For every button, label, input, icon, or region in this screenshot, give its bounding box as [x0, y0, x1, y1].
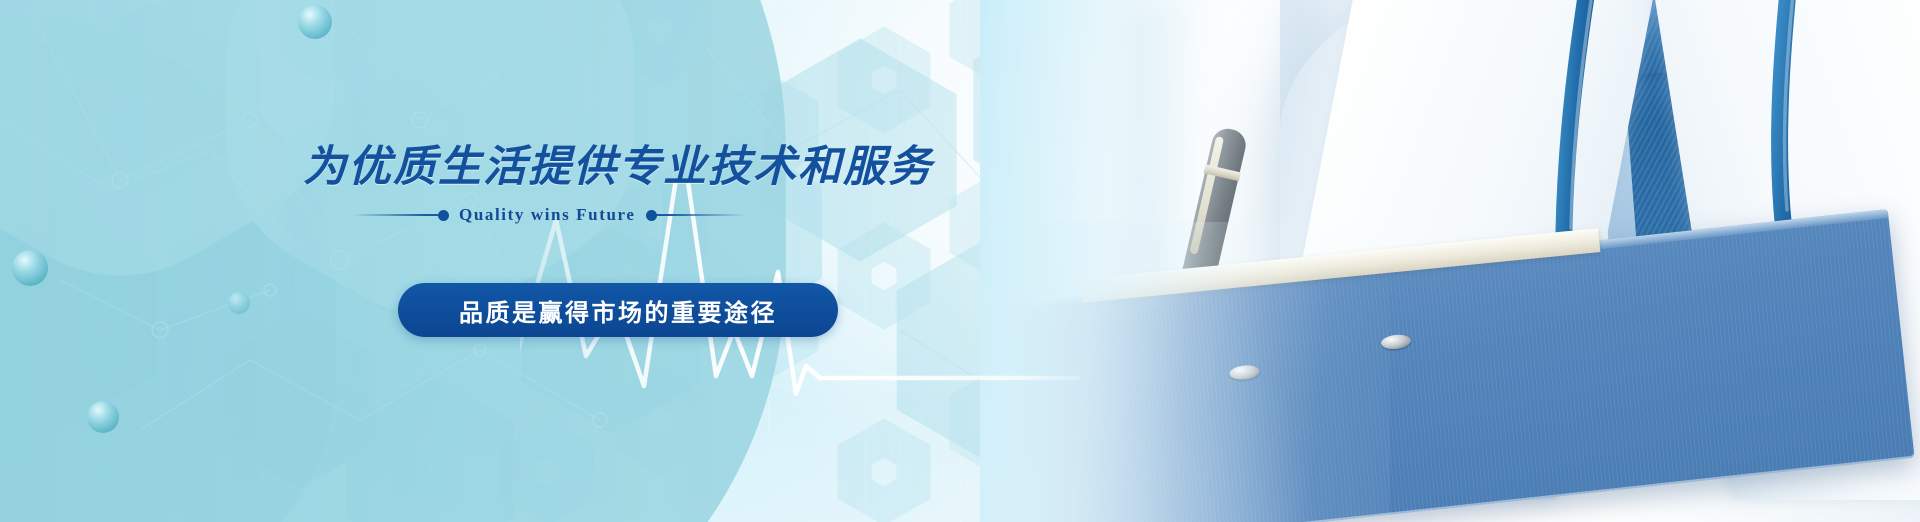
- divider-dot-left: [438, 210, 449, 221]
- slogan-pill[interactable]: 品质是赢得市场的重要途径: [398, 283, 838, 337]
- divider-line-left: [352, 214, 438, 216]
- page-title: 为优质生活提供专业技术和服务: [303, 132, 933, 194]
- tagline-divider: Quality wins Future: [352, 204, 682, 226]
- tagline-english: Quality wins Future: [449, 205, 646, 225]
- hero-banner: 为优质生活提供专业技术和服务 Quality wins Future 品质是赢得…: [0, 0, 1920, 522]
- divider-line-right: [657, 214, 745, 216]
- slogan-pill-label: 品质是赢得市场的重要途径: [459, 293, 777, 328]
- divider-dot-right: [646, 210, 657, 221]
- banner-content: 为优质生活提供专业技术和服务 Quality wins Future 品质是赢得…: [0, 0, 1920, 522]
